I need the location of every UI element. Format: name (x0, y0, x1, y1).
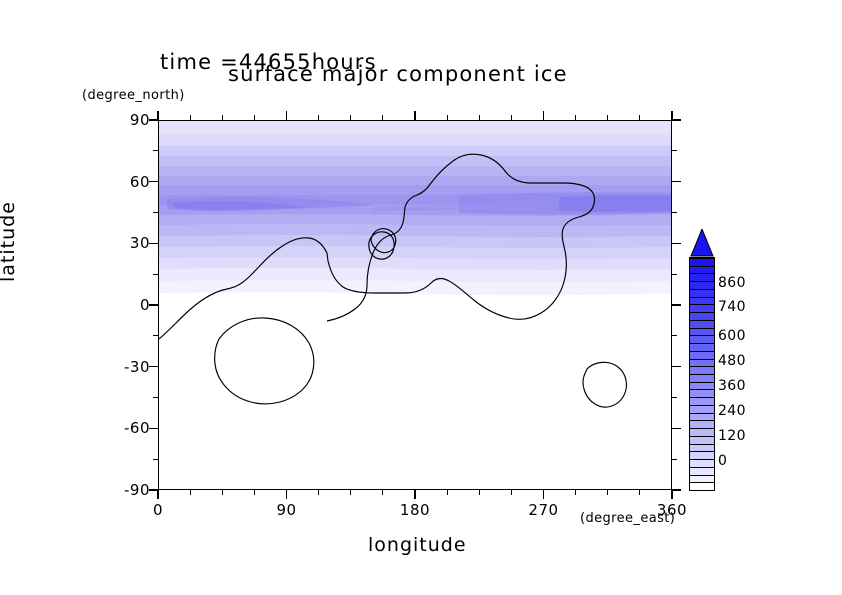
colorbar-segment-divider (690, 444, 714, 445)
x-axis-tick-minor (254, 490, 255, 495)
x-axis-tick-minor (318, 490, 319, 495)
x-axis-tick-minor (479, 490, 480, 495)
colorbar-segment-divider (690, 451, 714, 452)
x-axis-tick-major (414, 490, 415, 499)
x-axis-tick-minor-top (575, 115, 576, 120)
x-axis-tick-minor (382, 490, 383, 495)
y-axis-tick-label: 90 (100, 111, 150, 129)
y-axis-tick-minor-right (672, 397, 677, 398)
y-axis-tick-major (149, 428, 158, 429)
y-axis-tick-minor-right (672, 459, 677, 460)
y-axis-tick-major-right (672, 181, 681, 182)
colorbar-segment-divider (690, 335, 714, 336)
y-axis-tick-minor (153, 212, 158, 213)
y-axis-tick-major (149, 489, 158, 490)
x-axis-tick-minor-top (254, 115, 255, 120)
x-axis-tick-minor-top (190, 115, 191, 120)
y-axis-tick-minor (153, 397, 158, 398)
colorbar-tick-label: 0 (718, 453, 727, 469)
x-axis-tick-minor (190, 490, 191, 495)
x-axis-tick-label: 270 (528, 501, 560, 519)
colorbar-segment-divider (690, 459, 714, 460)
x-axis-tick-minor (607, 490, 608, 495)
x-axis-tick-major-top (543, 111, 544, 120)
colorbar-tick-label: 740 (718, 299, 746, 315)
colorbar-overflow-arrow (689, 229, 715, 257)
colorbar-segment-divider (690, 428, 714, 429)
x-axis-tick-label: 90 (271, 501, 303, 519)
x-axis-tick-major-top (414, 111, 415, 120)
x-axis-tick-label: 360 (656, 501, 688, 519)
x-axis-tick-major (671, 490, 672, 499)
colorbar-segment-divider (690, 366, 714, 367)
y-axis-units: (degree_north) (82, 88, 185, 103)
colorbar-tick-label: 860 (718, 275, 746, 291)
colorbar-tick-label: 600 (718, 328, 746, 344)
x-axis-tick-minor-top (479, 115, 480, 120)
x-axis-tick-label: 0 (142, 501, 174, 519)
colorbar-segment (690, 482, 714, 490)
x-axis-tick-minor-top (447, 115, 448, 120)
y-axis-tick-label: -30 (100, 358, 150, 376)
colorbar[interactable] (689, 257, 715, 491)
colorbar-segment-divider (690, 320, 714, 321)
x-axis-tick-minor (447, 490, 448, 495)
y-axis-tick-major-right (672, 243, 681, 244)
colorbar-segment-divider (690, 328, 714, 329)
y-axis-tick-minor (153, 459, 158, 460)
y-axis-tick-major-right (672, 366, 681, 367)
y-axis-tick-label: -60 (100, 419, 150, 437)
x-axis-tick-minor (222, 490, 223, 495)
x-axis-label: longitude (368, 534, 467, 556)
y-axis-tick-minor-right (672, 212, 677, 213)
x-axis-tick-minor-top (511, 115, 512, 120)
y-axis-tick-label: -90 (100, 481, 150, 499)
colorbar-segment-divider (690, 413, 714, 414)
colorbar-segment-divider (690, 389, 714, 390)
colorbar-segment-divider (690, 420, 714, 421)
y-axis-tick-major (149, 304, 158, 305)
colorbar-segment-divider (690, 359, 714, 360)
y-axis-tick-major-right (672, 489, 681, 490)
map-plot-area (158, 120, 672, 490)
colorbar-segment-divider (690, 266, 714, 267)
x-axis-tick-minor-top (382, 115, 383, 120)
colorbar-segment-divider (690, 343, 714, 344)
colorbar-segment-divider (690, 374, 714, 375)
colorbar-segment-divider (690, 258, 714, 259)
colorbar-tick-label: 120 (718, 428, 746, 444)
y-axis-tick-minor-right (672, 335, 677, 336)
x-axis-tick-minor-top (222, 115, 223, 120)
x-axis-tick-major (157, 490, 158, 499)
x-axis-tick-minor-top (639, 115, 640, 120)
colorbar-segment-divider (690, 351, 714, 352)
y-axis-tick-minor-right (672, 274, 677, 275)
coastline-contours (159, 121, 672, 490)
colorbar-segment-divider (690, 312, 714, 313)
colorbar-segment-divider (690, 467, 714, 468)
x-axis-tick-minor (511, 490, 512, 495)
colorbar-segment-divider (690, 475, 714, 476)
y-axis-tick-label: 60 (100, 173, 150, 191)
y-axis-tick-minor (153, 150, 158, 151)
colorbar-tick-label: 360 (718, 378, 746, 394)
colorbar-segment-divider (690, 397, 714, 398)
x-axis-tick-minor-top (318, 115, 319, 120)
colorbar-segment-divider (690, 482, 714, 483)
plot-title-variable: surface major component ice (228, 62, 568, 86)
y-axis-tick-label: 30 (100, 234, 150, 252)
colorbar-segment-divider (690, 304, 714, 305)
colorbar-segment-divider (690, 297, 714, 298)
y-axis-tick-major-right (672, 119, 681, 120)
colorbar-tick-label: 480 (718, 353, 746, 369)
x-axis-tick-major (286, 490, 287, 499)
y-axis-tick-major (149, 119, 158, 120)
x-axis-tick-minor (350, 490, 351, 495)
x-axis-tick-major (543, 490, 544, 499)
colorbar-tick-label: 240 (718, 403, 746, 419)
y-axis-label: latitude (0, 201, 19, 282)
y-axis-tick-major-right (672, 428, 681, 429)
colorbar-segment-divider (690, 436, 714, 437)
colorbar-segment-divider (690, 281, 714, 282)
y-axis-tick-minor-right (672, 150, 677, 151)
y-axis-tick-minor (153, 274, 158, 275)
y-axis-tick-major (149, 181, 158, 182)
x-axis-tick-minor-top (350, 115, 351, 120)
y-axis-tick-minor (153, 335, 158, 336)
y-axis-tick-major-right (672, 304, 681, 305)
x-axis-tick-minor (575, 490, 576, 495)
colorbar-segment-divider (690, 273, 714, 274)
colorbar-segment-divider (690, 289, 714, 290)
x-axis-tick-label: 180 (399, 501, 431, 519)
x-axis-tick-major-top (286, 111, 287, 120)
x-axis-tick-minor-top (607, 115, 608, 120)
y-axis-tick-label: 0 (100, 296, 150, 314)
figure-canvas: time =44655hours surface major component… (0, 0, 842, 595)
colorbar-segment-divider (690, 382, 714, 383)
map-graphics (159, 121, 672, 490)
y-axis-tick-major (149, 243, 158, 244)
y-axis-tick-major (149, 366, 158, 367)
x-axis-tick-minor (639, 490, 640, 495)
colorbar-segment-divider (690, 405, 714, 406)
